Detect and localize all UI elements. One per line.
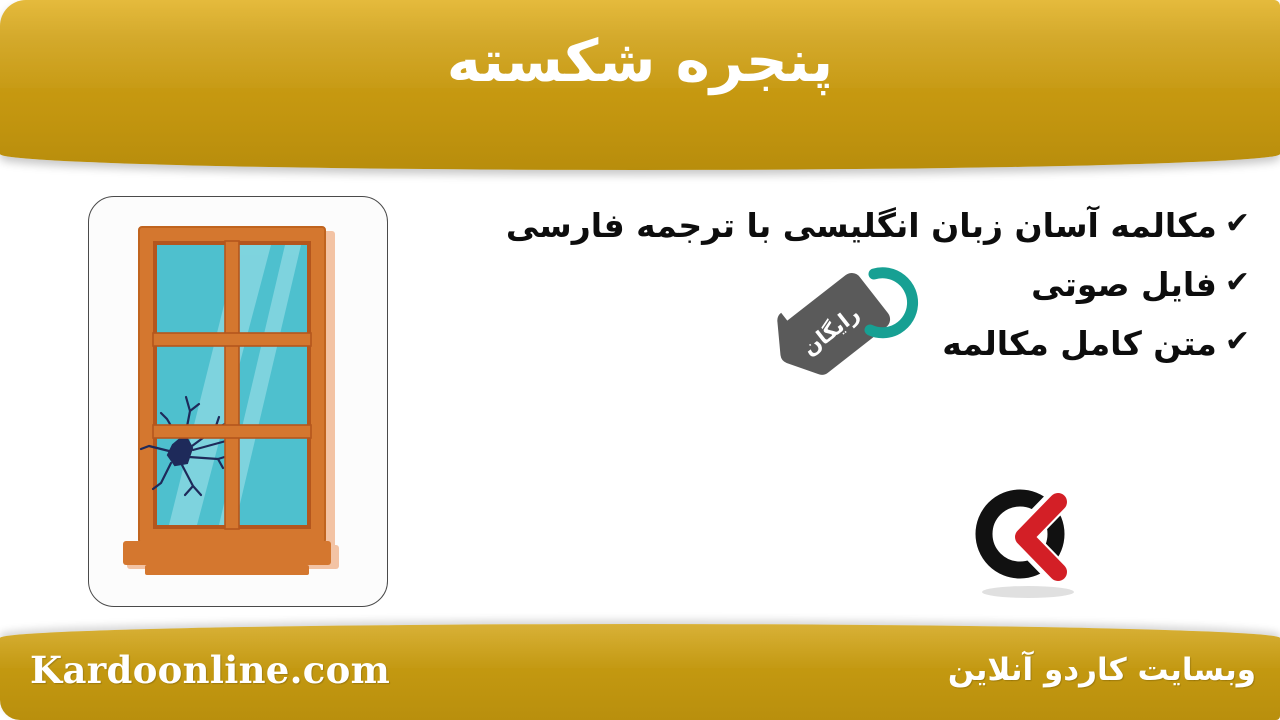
features-list: ✔ مکالمه آسان زبان انگلیسی با ترجمه فارس… — [390, 198, 1250, 375]
page-title: پنجره شکسته — [0, 22, 1280, 100]
feature-label: فایل صوتی — [1031, 264, 1217, 305]
list-item: ✔ فایل صوتی — [390, 257, 1250, 313]
check-icon: ✔ — [1225, 327, 1250, 361]
feature-label: متن کامل مکالمه — [942, 323, 1217, 364]
footer-brand-name-fa: وبسایت کاردو آنلاین — [948, 652, 1256, 688]
broken-window-card — [88, 196, 388, 607]
feature-label: مکالمه آسان زبان انگلیسی با ترجمه فارسی — [506, 205, 1217, 246]
header-banner: پنجره شکسته — [0, 0, 1280, 170]
kardoonline-logo-icon — [962, 480, 1094, 598]
check-icon: ✔ — [1225, 268, 1250, 302]
broken-window-icon — [89, 197, 387, 606]
check-icon: ✔ — [1225, 209, 1250, 243]
list-item: ✔ متن کامل مکالمه — [390, 316, 1250, 372]
list-item: ✔ مکالمه آسان زبان انگلیسی با ترجمه فارس… — [390, 198, 1250, 254]
footer-banner: Kardoonline.com وبسایت کاردو آنلاین — [0, 624, 1280, 720]
footer-website-url[interactable]: Kardoonline.com — [30, 648, 390, 692]
